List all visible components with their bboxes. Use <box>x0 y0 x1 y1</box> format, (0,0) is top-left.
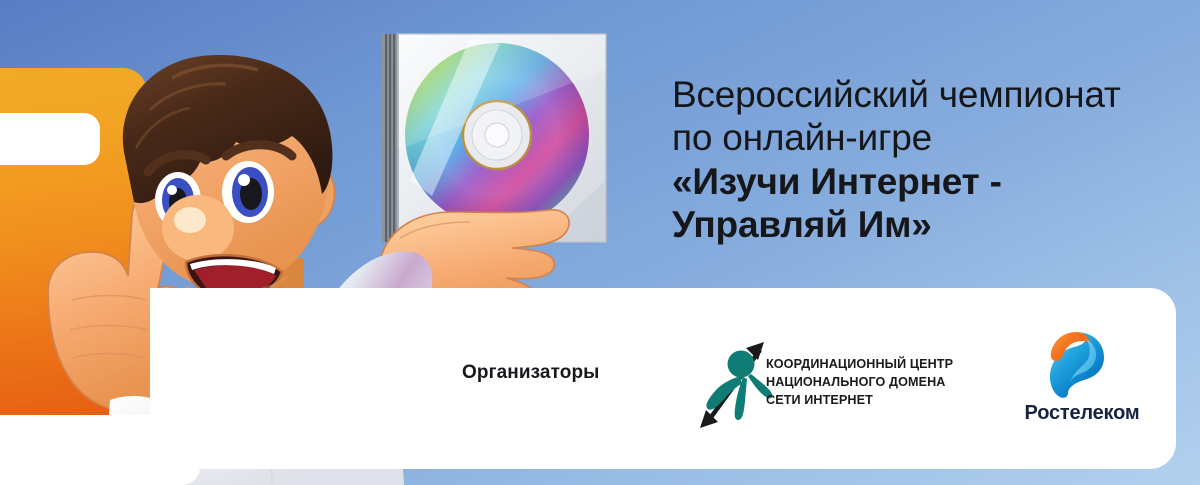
headline-line-4: Управляй Им» <box>672 203 1192 246</box>
headline-line-3: «Изучи Интернет - <box>672 160 1192 203</box>
promo-banner: Всероссийский чемпионат по онлайн-игре «… <box>0 0 1200 485</box>
coordination-center-wordmark: КООРДИНАЦИОННЫЙ ЦЕНТР НАЦИОНАЛЬНОГО ДОМЕ… <box>766 356 953 410</box>
cc-line-1: КООРДИНАЦИОННЫЙ ЦЕНТР <box>766 356 953 374</box>
cd-jewel-case <box>382 34 606 242</box>
coordination-center-logo[interactable]: КООРДИНАЦИОННЫЙ ЦЕНТР НАЦИОНАЛЬНОГО ДОМЕ… <box>694 336 974 432</box>
rostelecom-wordmark: Ростелеком <box>1012 402 1152 425</box>
organizers-label: Организаторы <box>462 362 599 384</box>
coordination-center-mark-icon <box>694 336 772 432</box>
rostelecom-logo[interactable]: Ростелеком <box>1012 330 1152 430</box>
page-title: Всероссийский чемпионат по онлайн-игре «… <box>672 73 1192 246</box>
rostelecom-mark-icon <box>1040 330 1112 400</box>
headline-line-2: по онлайн-игре <box>672 116 1192 159</box>
cc-line-3: СЕТИ ИНТЕРНЕТ <box>766 392 953 410</box>
headline-line-1: Всероссийский чемпионат <box>672 73 1192 116</box>
cc-line-2: НАЦИОНАЛЬНОГО ДОМЕНА <box>766 374 953 392</box>
